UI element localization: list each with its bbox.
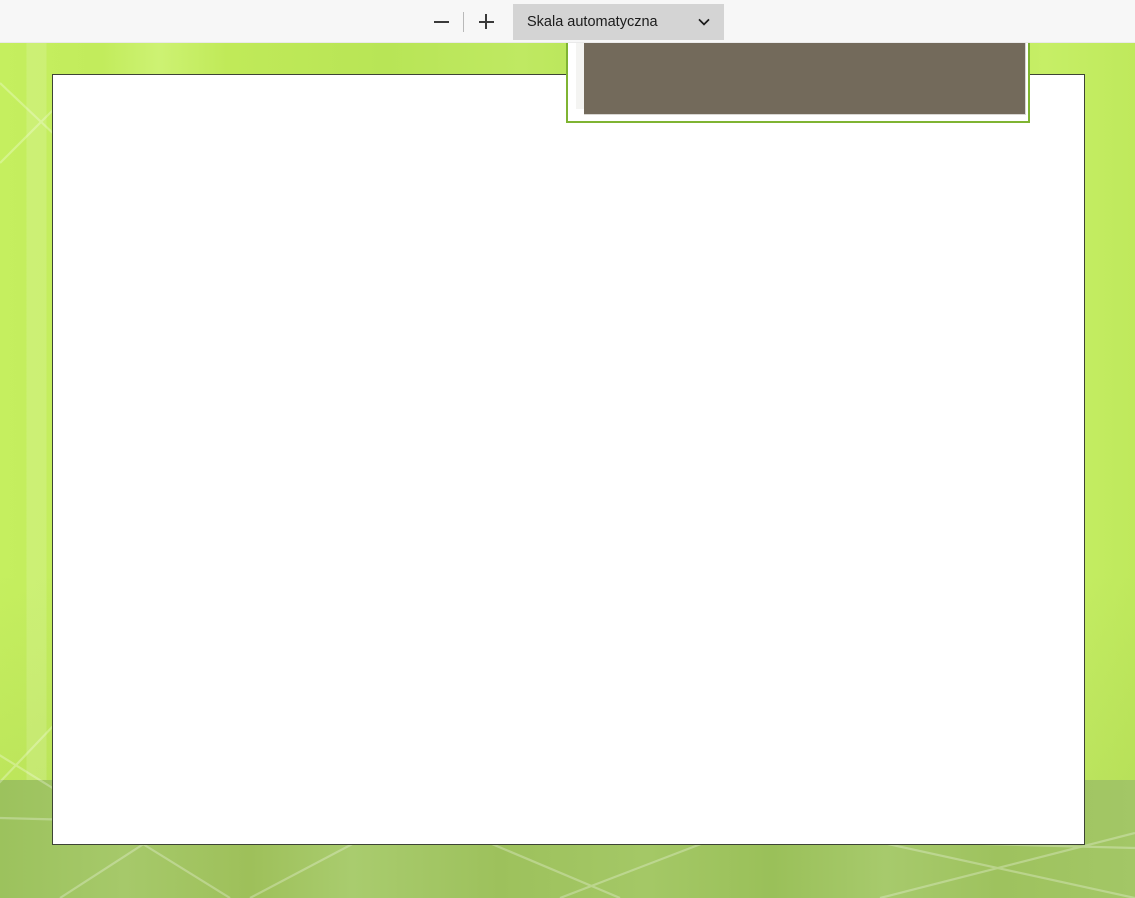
zoom-out-button[interactable]: [424, 5, 458, 39]
slide-content-card: [52, 74, 1085, 845]
zoom-in-button[interactable]: [469, 5, 503, 39]
slide-canvas: Język polski Analiza i interpretacja tek…: [0, 43, 1135, 898]
chevron-down-icon: [698, 16, 710, 28]
previous-slide-inner: [576, 43, 1018, 109]
previous-slide-edge: [566, 43, 1030, 123]
minus-icon: [434, 21, 449, 23]
scale-select-label: Skala automatyczna: [527, 14, 658, 30]
toolbar-divider: [463, 12, 464, 32]
viewer-toolbar: Skala automatyczna: [0, 0, 1135, 43]
zoom-controls: Skala automatyczna: [424, 0, 724, 43]
previous-slide-image: [584, 43, 1026, 115]
scale-select[interactable]: Skala automatyczna: [513, 4, 724, 40]
plus-icon: [479, 14, 494, 29]
